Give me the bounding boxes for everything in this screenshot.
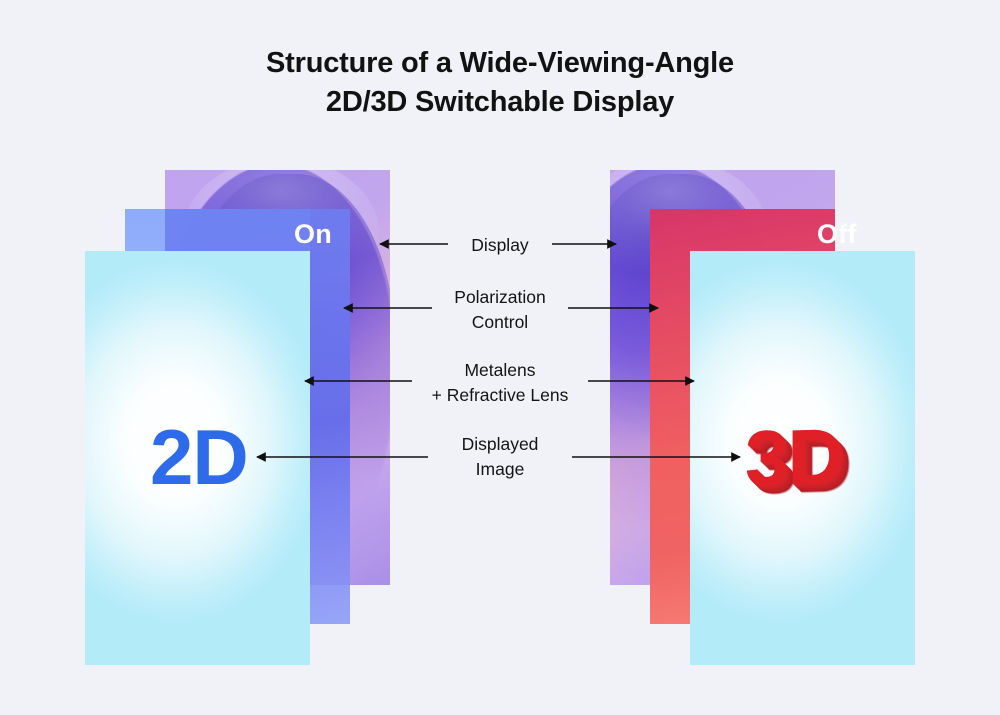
annotation-label-metalens: Metalens + Refractive Lens [400, 358, 600, 408]
diagram-canvas: Structure of a Wide-Viewing-Angle 2D/3D … [0, 0, 1000, 715]
annotation-label-displayed-image: Displayed Image [420, 432, 580, 482]
annotation-label-display: Display [430, 233, 570, 258]
annotation-label-polarization-control: Polarization Control [420, 285, 580, 335]
